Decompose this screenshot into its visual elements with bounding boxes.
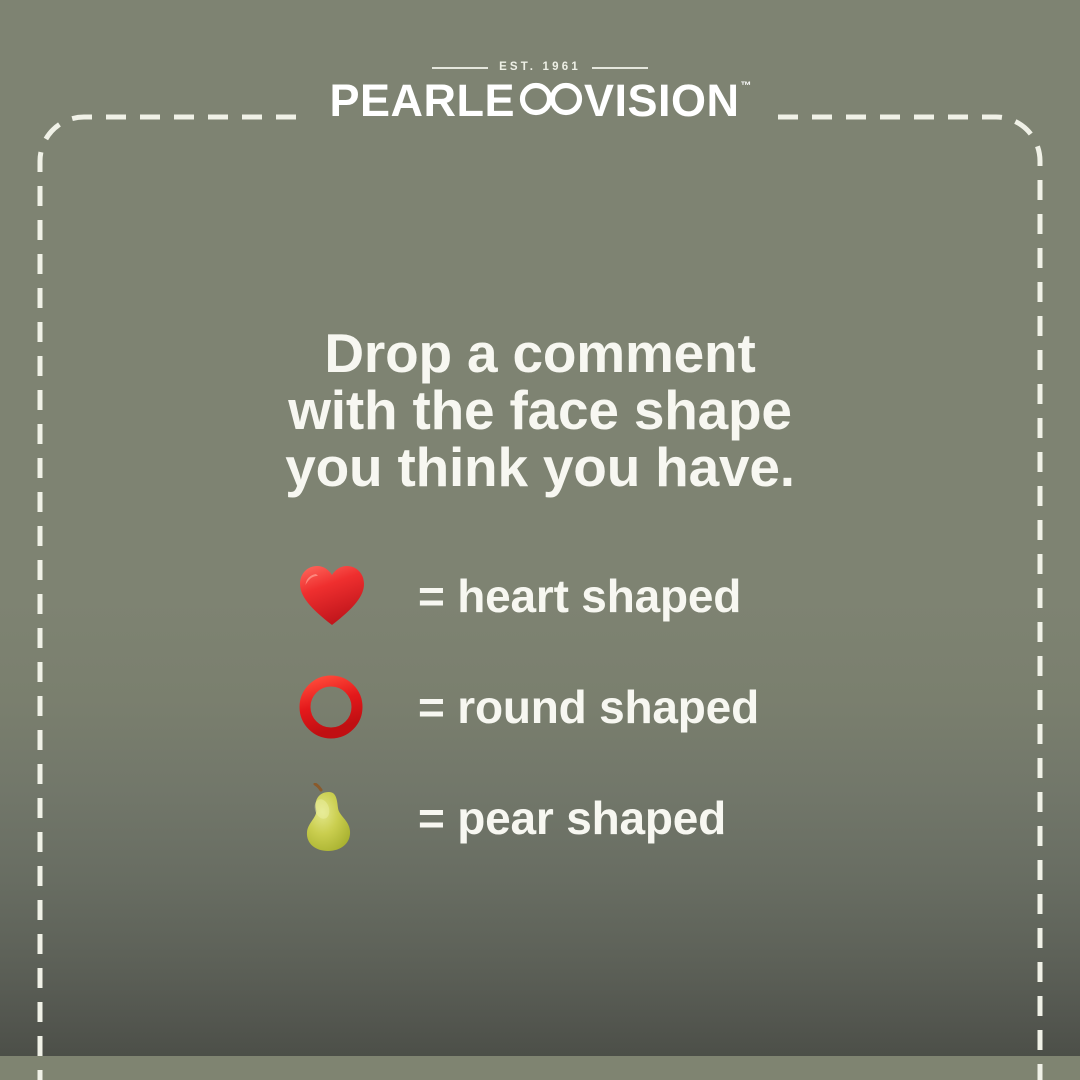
social-post-canvas: EST. 1961 PEARLE VISION ™ Drop a comment… xyxy=(0,0,1080,1080)
legend-row-pear: = pear shaped xyxy=(290,762,910,873)
legend-label-heart: = heart shaped xyxy=(418,573,741,619)
established-rule-left xyxy=(432,67,488,69)
brand-name-first: PEARLE xyxy=(329,78,515,123)
red-heart-emoji xyxy=(290,564,418,628)
headline: Drop a comment with the face shape you t… xyxy=(0,325,1080,496)
eyeglasses-icon xyxy=(519,82,583,120)
trademark-symbol: ™ xyxy=(741,81,752,92)
established-text: EST. 1961 xyxy=(499,62,581,74)
headline-line-1: Drop a comment xyxy=(0,325,1080,382)
background-gradient xyxy=(0,0,1080,1056)
bottom-color-strip xyxy=(0,1056,1080,1080)
pear-emoji xyxy=(290,783,418,853)
brand-logo: EST. 1961 PEARLE VISION ™ xyxy=(0,62,1080,123)
legend-row-round: = round shaped xyxy=(290,651,910,762)
headline-line-3: you think you have. xyxy=(0,439,1080,496)
brand-wordmark: PEARLE VISION ™ xyxy=(329,78,750,123)
established-line: EST. 1961 xyxy=(0,62,1080,74)
legend-row-heart: = heart shaped xyxy=(290,540,910,651)
hollow-red-circle-emoji xyxy=(290,674,418,740)
headline-line-2: with the face shape xyxy=(0,382,1080,439)
face-shape-legend: = heart shaped = round shaped xyxy=(290,540,910,873)
established-rule-right xyxy=(592,67,648,69)
legend-label-round: = round shaped xyxy=(418,684,759,730)
legend-label-pear: = pear shaped xyxy=(418,795,726,841)
brand-name-second: VISION xyxy=(584,78,740,123)
